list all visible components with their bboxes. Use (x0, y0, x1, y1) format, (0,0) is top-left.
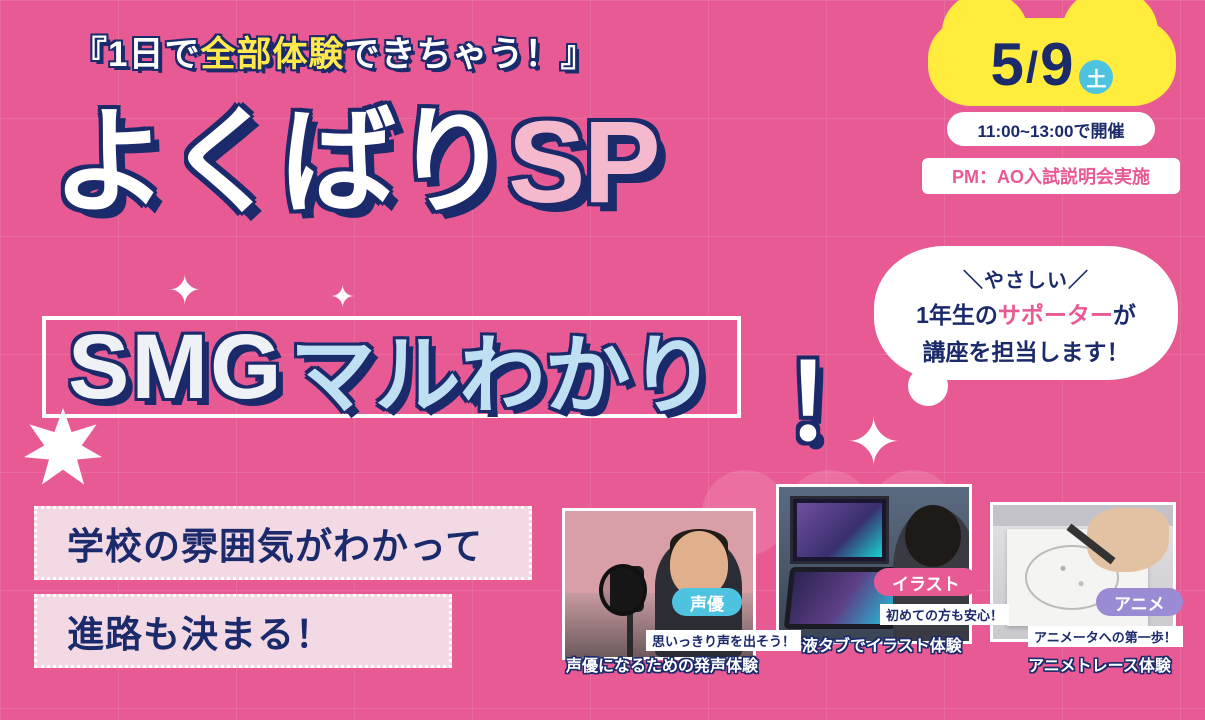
balloon-line-2-pre: 1年生 (916, 302, 975, 328)
card-title-anime: アニメトレース体験 (1028, 652, 1171, 676)
balloon-line-2-mid: の (975, 302, 998, 328)
catch-copy-highlight: 全部体験 (200, 35, 344, 74)
info-box-career: 進路も決まる！ (34, 594, 452, 668)
card-title-illustration: 液タブでイラスト体験 (802, 632, 962, 656)
card-subtitle-voice-actor: 思いっきり声を出そう！ (646, 630, 801, 651)
title-line-1-part1: よくばり (52, 97, 508, 227)
card-title-voice-actor: 声優になるための発声体験 (566, 652, 758, 676)
title-line-2-part2: マルわかり (290, 305, 715, 430)
catch-copy-suffix: できちゃう！』 (344, 35, 596, 74)
date-badge: 5 / 9 土 (928, 22, 1176, 106)
starburst-icon (24, 408, 102, 486)
balloon-line-2-post: が (1113, 302, 1136, 328)
event-time-pill: 11:00~13:00で開催 (947, 112, 1155, 146)
card-subtitle-anime: アニメータへの第一歩！ (1028, 626, 1183, 647)
poster-root: 『1日で全部体験できちゃう！』 よくばりSP ✦ ✦ ✦ SMG マルわかり ！… (0, 0, 1205, 720)
date-slash: / (1026, 43, 1038, 93)
sparkle-icon: ✦ (168, 268, 202, 314)
info-box-atmosphere: 学校の雰囲気がわかって (34, 506, 532, 580)
pm-session-pill: PM：AO入試説明会実施 (922, 158, 1180, 194)
title-line-1: よくばりSP (52, 104, 659, 220)
balloon-line-3: 講座を担当します！ (923, 333, 1130, 367)
card-tag-illustration: イラスト (874, 568, 978, 596)
title-line-2-part1: SMG (68, 315, 284, 420)
photo-card-anime (990, 502, 1176, 642)
balloon-line-2-accent: サポーター (998, 302, 1113, 328)
card-subtitle-illustration: 初めての方も安心！ (880, 604, 1009, 625)
date-month: 5 (991, 30, 1024, 99)
title-line-2: SMG マルわかり (42, 316, 741, 418)
date-day-of-week: 土 (1079, 60, 1113, 94)
card-tag-anime: アニメ (1096, 588, 1183, 616)
catch-copy: 『1日で全部体験できちゃう！』 (72, 26, 597, 77)
title-line-1-part2: SP (508, 97, 659, 227)
balloon-line-2: 1年生のサポーターが (916, 296, 1136, 330)
card-tag-voice-actor: 声優 (672, 588, 742, 616)
balloon-line-1: ＼やさしい／ (963, 264, 1089, 293)
date-day: 9 (1040, 30, 1073, 99)
supporter-balloon: ＼やさしい／ 1年生のサポーターが 講座を担当します！ (874, 246, 1178, 380)
info-box-text: 進路も決まる！ (67, 604, 333, 658)
info-box-text: 学校の雰囲気がわかって (67, 516, 483, 570)
photo-anime (990, 502, 1176, 642)
title-exclamation: ！ (782, 318, 886, 469)
catch-copy-prefix: 『1日で (72, 35, 200, 74)
